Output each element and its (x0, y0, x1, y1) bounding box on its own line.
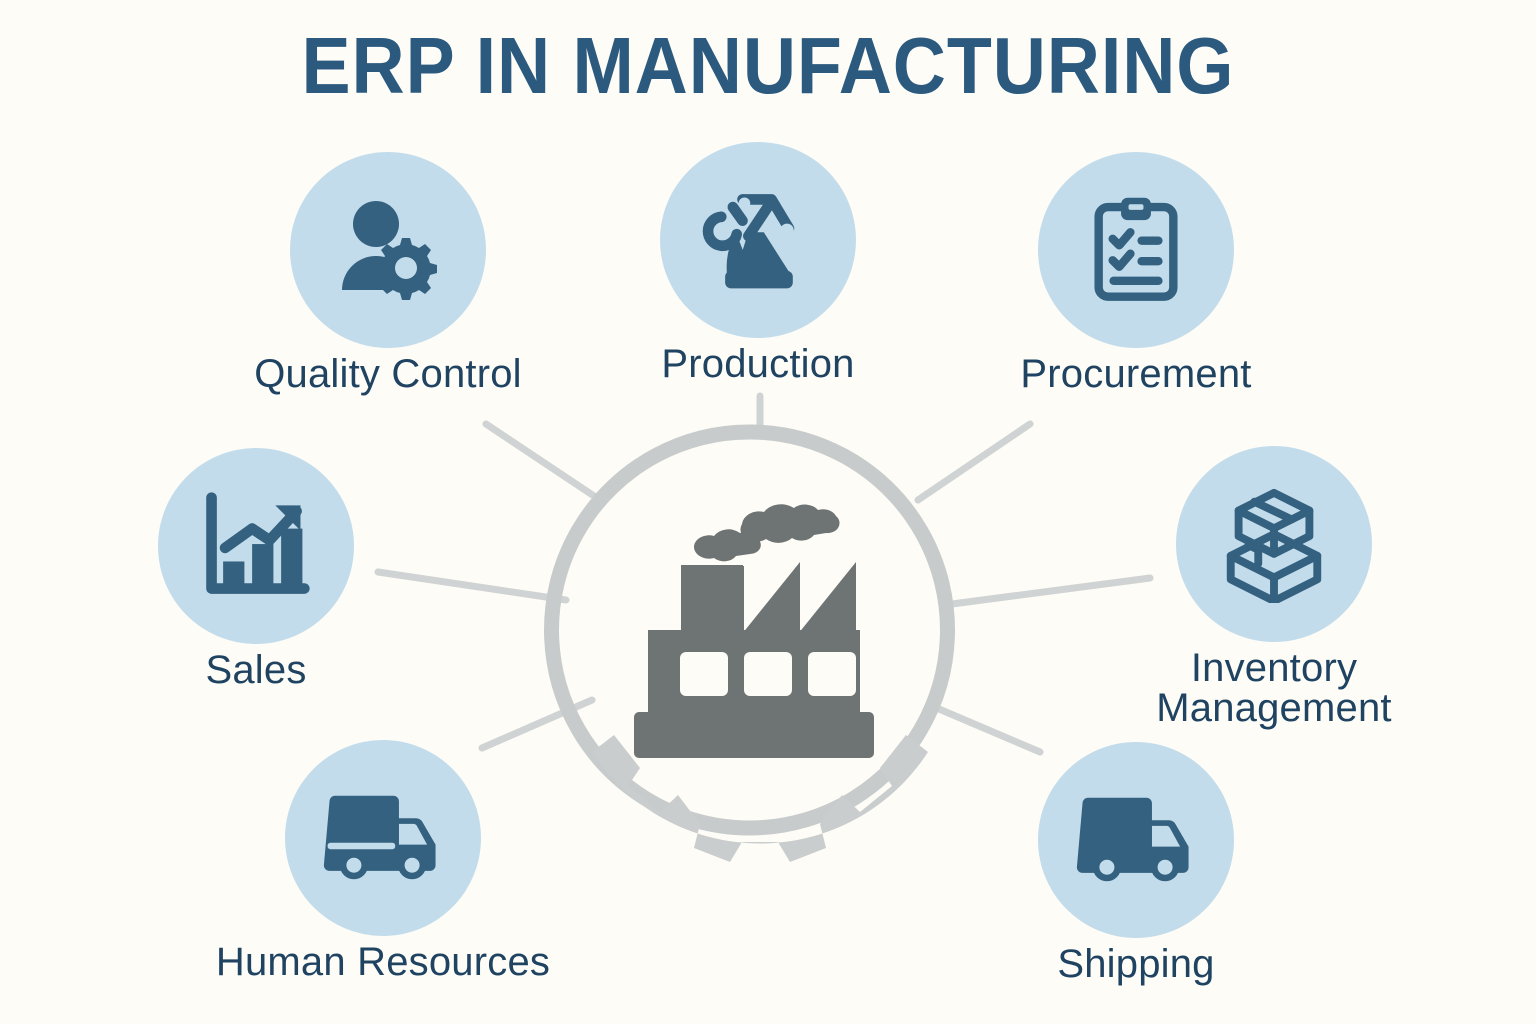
delivery-truck-icon (322, 777, 444, 899)
icon-bubble (1038, 742, 1234, 938)
node-label: Inventory Management (1109, 648, 1439, 728)
robot-arm-icon (700, 182, 816, 298)
icon-bubble (1038, 152, 1234, 348)
icon-bubble (158, 448, 354, 644)
spoke-quality (486, 424, 600, 500)
clipboard-check-icon (1080, 194, 1192, 306)
factory-icon (634, 504, 874, 758)
spoke-sales (378, 572, 566, 600)
node-label: Quality Control (208, 354, 568, 395)
delivery-truck-icon (1075, 779, 1197, 901)
node-label: Sales (126, 650, 386, 691)
icon-bubble (290, 152, 486, 348)
spoke-procurement (918, 424, 1030, 500)
node-shipping[interactable]: Shipping (1006, 742, 1266, 985)
infographic-canvas: ERP IN MANUFACTURING (0, 0, 1536, 1024)
icon-bubble (660, 142, 856, 338)
bar-chart-growth-icon (198, 488, 314, 604)
user-gear-icon (328, 190, 448, 310)
node-label: Shipping (1006, 944, 1266, 985)
icon-bubble (1176, 446, 1372, 642)
node-inventory-management[interactable]: Inventory Management (1109, 446, 1439, 728)
node-label: Production (628, 344, 888, 385)
node-label: Procurement (1006, 354, 1266, 395)
node-label: Human Resources (173, 942, 593, 983)
node-sales[interactable]: Sales (126, 448, 386, 691)
stacked-boxes-icon (1215, 485, 1333, 603)
node-quality-control[interactable]: Quality Control (208, 152, 568, 395)
icon-bubble (285, 740, 481, 936)
node-procurement[interactable]: Procurement (1006, 152, 1266, 395)
node-production[interactable]: Production (628, 142, 888, 385)
node-human-resources[interactable]: Human Resources (173, 740, 593, 983)
